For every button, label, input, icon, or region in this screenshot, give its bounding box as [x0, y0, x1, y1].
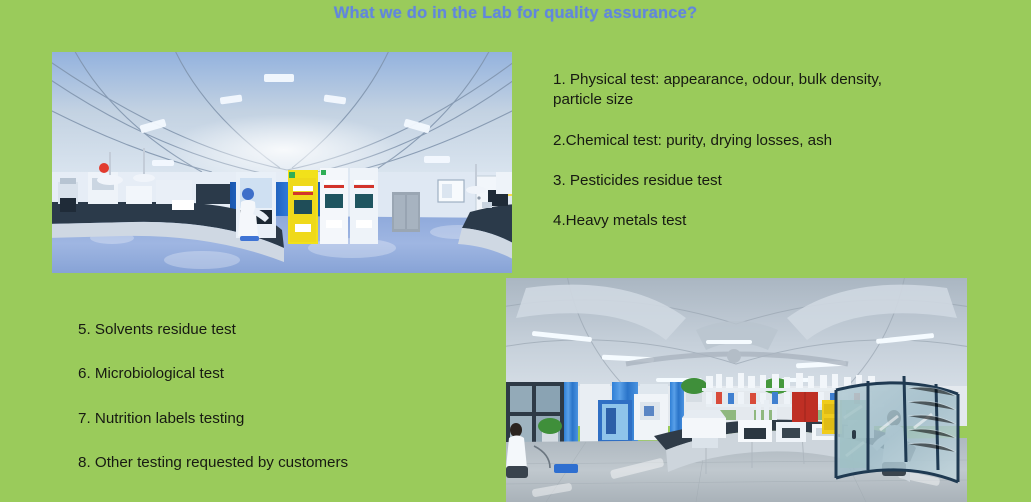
list-item: 5. Solvents residue test — [78, 320, 478, 340]
list-item: 2.Chemical test: purity, drying losses, … — [553, 131, 933, 151]
page-title: What we do in the Lab for quality assura… — [0, 4, 1031, 23]
list-item: 7. Nutrition labels testing — [78, 409, 478, 429]
list-item: 6. Microbiological test — [78, 364, 478, 384]
quality-test-list-right: 1. Physical test: appearance, odour, bul… — [553, 70, 933, 232]
list-item: 8. Other testing requested by customers — [78, 453, 478, 473]
laboratory-panorama-instrument-room-image — [506, 278, 967, 502]
list-item: 1. Physical test: appearance, odour, bul… — [553, 70, 933, 111]
list-item: 4.Heavy metals test — [553, 211, 933, 231]
slide-canvas: What we do in the Lab for quality assura… — [0, 0, 1031, 502]
laboratory-panorama-cleanroom-image — [52, 52, 512, 273]
quality-test-list-left: 5. Solvents residue test 6. Microbiologi… — [78, 320, 478, 497]
list-item: 3. Pesticides residue test — [553, 171, 933, 191]
